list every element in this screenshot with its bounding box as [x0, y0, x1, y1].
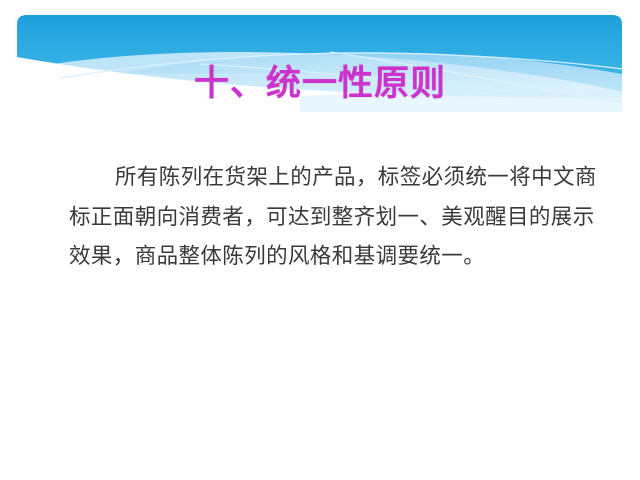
page-title: 十、统一性原则 — [0, 63, 640, 105]
body-line-1: 所有陈列在货架上的产品，标签必须统一将中文商 — [69, 158, 587, 198]
body-paragraph: 所有陈列在货架上的产品，标签必须统一将中文商 标正面朝向消费者，可达到整齐划一、… — [69, 158, 587, 277]
body-line-2: 标正面朝向消费者，可达到整齐划一、美观醒目的展示 — [69, 198, 587, 238]
slide: 十、统一性原则 所有陈列在货架上的产品，标签必须统一将中文商 标正面朝向消费者，… — [0, 0, 640, 480]
body-line-3: 效果，商品整体陈列的风格和基调要统一。 — [69, 237, 587, 277]
